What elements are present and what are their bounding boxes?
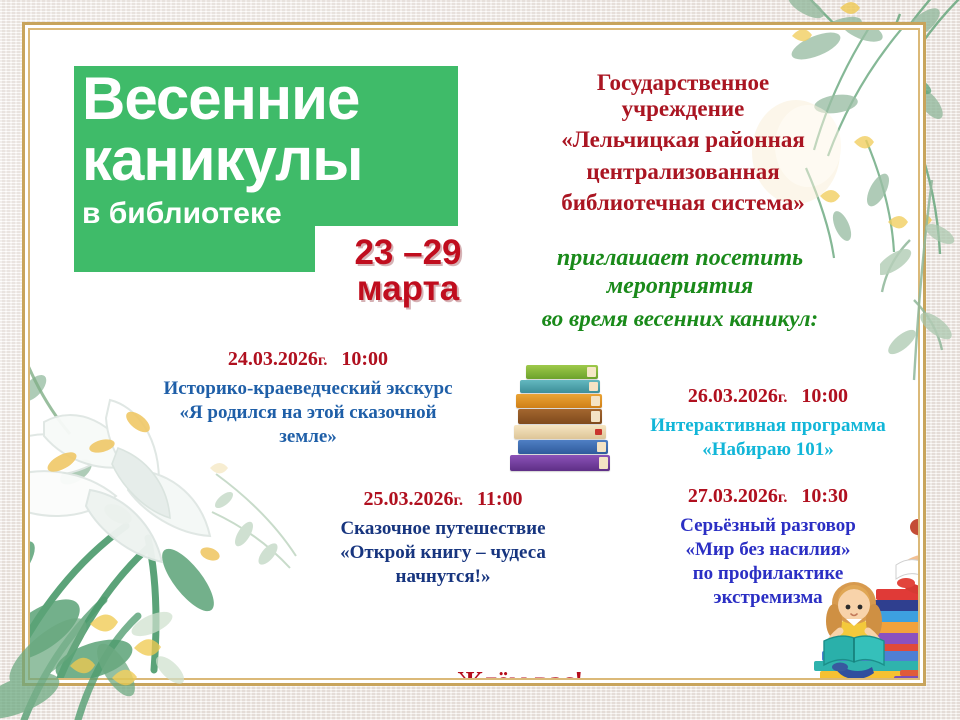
headline-line-3: в библиотеке (82, 200, 462, 229)
event-title: Историко-краеведческий экскурс «Я родилс… (108, 377, 508, 449)
poster-canvas: Весенние каникулы в библиотеке 23 –29 ма… (0, 0, 960, 720)
stack-of-books-icon (508, 365, 618, 470)
event-date-suffix: г. (778, 389, 787, 406)
event-title: Интерактивная программа «Набираю 101» (608, 414, 918, 462)
event-time: 11:00 (477, 488, 523, 510)
event-datetime: 25.03.2026г.11:00 (278, 488, 608, 511)
event-title-line: Интерактивная программа (608, 414, 918, 438)
organization-title: Государственное учреждение «Лельчицкая р… (478, 70, 888, 217)
event-title-line: «Набираю 101» (608, 438, 918, 462)
event-title-line: «Я родился на этой сказочной (108, 401, 508, 425)
event-time: 10:30 (801, 485, 848, 507)
event-title-line: начнутся!» (278, 565, 608, 589)
event-datetime: 27.03.2026г.10:30 (608, 485, 918, 508)
org-line-4: централизованная (478, 159, 888, 186)
org-line-2: учреждение (478, 96, 888, 122)
event-item: 25.03.2026г.11:00 Сказочное путешествие … (278, 488, 608, 589)
org-line-5: библиотечная система» (478, 190, 888, 217)
event-time: 10:00 (801, 385, 848, 407)
children-reading-books-icon (810, 515, 918, 678)
footer-text: Ждём вас! (360, 666, 680, 678)
event-date: 27.03.2026 (688, 485, 778, 507)
invitation-line-2: мероприятия (460, 273, 900, 301)
event-date: 25.03.2026 (363, 488, 453, 510)
event-title-line: «Открой книгу – чудеса (278, 541, 608, 565)
event-date: 26.03.2026 (688, 385, 778, 407)
invitation-line-1: приглашает посетить (460, 245, 900, 273)
event-item: 24.03.2026г.10:00 Историко-краеведческий… (108, 348, 508, 449)
org-line-1: Государственное (478, 70, 888, 96)
event-date-suffix: г. (778, 489, 787, 506)
headline-banner-bottom (74, 226, 315, 272)
headline-line-1: Весенние (82, 70, 462, 127)
org-line-3: «Лельчицкая районная (478, 127, 888, 154)
event-title-line: земле» (108, 425, 508, 449)
event-item: 26.03.2026г.10:00 Интерактивная программ… (608, 385, 918, 462)
event-time: 10:00 (341, 348, 388, 370)
event-date-suffix: г. (453, 492, 462, 509)
event-date-suffix: г. (318, 352, 327, 369)
event-title: Сказочное путешествие «Открой книгу – чу… (278, 517, 608, 589)
invitation-text: приглашает посетить мероприятия во время… (460, 245, 900, 333)
event-date: 24.03.2026 (228, 348, 318, 370)
event-datetime: 26.03.2026г.10:00 (608, 385, 918, 408)
invitation-line-3: во время весенних каникул: (460, 306, 900, 332)
event-datetime: 24.03.2026г.10:00 (108, 348, 508, 371)
poster-inner-area: Весенние каникулы в библиотеке 23 –29 ма… (30, 30, 918, 678)
headline-banner-text: Весенние каникулы в библиотеке (82, 70, 462, 229)
event-title-line: Историко-краеведческий экскурс (108, 377, 508, 401)
small-books-icon (882, 670, 918, 678)
event-title-line: Сказочное путешествие (278, 517, 608, 541)
headline-line-2: каникулы (82, 131, 462, 188)
